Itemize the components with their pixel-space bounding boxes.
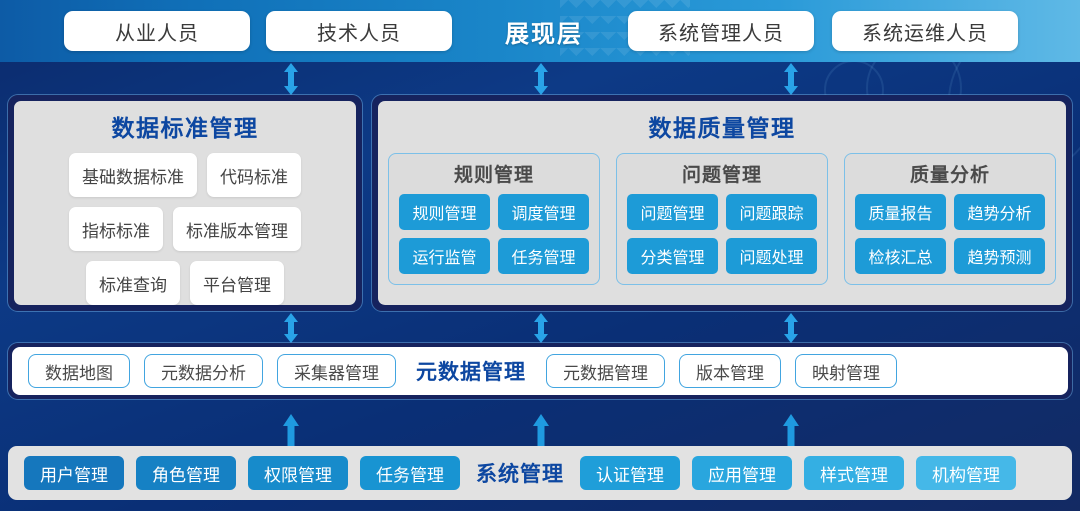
button-org-management[interactable]: 机构管理 [916,456,1016,490]
subcard-title-rule-management: 规则管理 [399,160,589,187]
button-issue-management[interactable]: 问题管理 [627,194,718,230]
chip-code-standard[interactable]: 代码标准 [207,153,301,197]
button-audit-summary[interactable]: 检核汇总 [855,238,946,274]
double-arrow-vertical-icon [531,312,551,344]
button-trend-forecast[interactable]: 趋势预测 [954,238,1045,274]
chip-basic-data-standard[interactable]: 基础数据标准 [69,153,197,197]
button-category-management[interactable]: 分类管理 [627,238,718,274]
button-task-management[interactable]: 任务管理 [498,238,589,274]
quality-analysis-buttons: 质量报告 趋势分析 检核汇总 趋势预测 [855,194,1045,274]
chip-standard-version-management[interactable]: 标准版本管理 [173,207,301,251]
up-arrow-icon [531,408,551,448]
subcard-title-quality-analysis: 质量分析 [855,160,1045,187]
button-issue-handling[interactable]: 问题处理 [726,238,817,274]
panel-data-standard-management: 数据标准管理 基础数据标准 代码标准 指标标准 标准版本管理 标准查询 平台管理 [8,95,362,311]
up-arrow-icon [281,408,301,448]
double-arrow-vertical-icon [281,312,301,344]
pill-metadata-analysis[interactable]: 元数据分析 [144,354,263,388]
panel-title-data-quality: 数据质量管理 [388,109,1056,143]
button-style-management[interactable]: 样式管理 [804,456,904,490]
button-schedule-management[interactable]: 调度管理 [498,194,589,230]
subcard-title-issue-management: 问题管理 [627,160,817,187]
up-arrow-icon [781,408,801,448]
chip-standard-query[interactable]: 标准查询 [86,261,180,305]
button-user-management[interactable]: 用户管理 [24,456,124,490]
subcard-rule-management: 规则管理 规则管理 调度管理 运行监管 任务管理 [388,153,600,285]
panel-data-quality-management: 数据质量管理 规则管理 规则管理 调度管理 运行监管 任务管理 问题管理 问题管… [372,95,1072,311]
button-operation-supervision[interactable]: 运行监管 [399,238,490,274]
pill-version-management[interactable]: 版本管理 [679,354,781,388]
system-management-label: 系统管理 [472,458,568,488]
button-auth-management[interactable]: 认证管理 [580,456,680,490]
button-application-management[interactable]: 应用管理 [692,456,792,490]
pill-data-map[interactable]: 数据地图 [28,354,130,388]
pill-collector-management[interactable]: 采集器管理 [277,354,396,388]
button-task-management-system[interactable]: 任务管理 [360,456,460,490]
button-issue-tracking[interactable]: 问题跟踪 [726,194,817,230]
button-permission-management[interactable]: 权限管理 [248,456,348,490]
middle-panels: 数据标准管理 基础数据标准 代码标准 指标标准 标准版本管理 标准查询 平台管理… [8,95,1072,311]
metadata-management-label: 元数据管理 [410,356,532,386]
quality-subcards: 规则管理 规则管理 调度管理 运行监管 任务管理 问题管理 问题管理 问题跟踪 … [388,153,1056,285]
pill-mapping-management[interactable]: 映射管理 [795,354,897,388]
button-rule-management[interactable]: 规则管理 [399,194,490,230]
presentation-layer-label: 展现层 [470,14,618,49]
presentation-layer-banner: 从业人员 技术人员 展现层 系统管理人员 系统运维人员 [0,0,1080,62]
double-arrow-vertical-icon [531,62,551,96]
double-arrow-vertical-icon [281,62,301,96]
role-pill-technician[interactable]: 技术人员 [266,11,452,51]
role-pill-system-ops[interactable]: 系统运维人员 [832,11,1018,51]
issue-management-buttons: 问题管理 问题跟踪 分类管理 问题处理 [627,194,817,274]
double-arrow-vertical-icon [781,312,801,344]
chip-indicator-standard[interactable]: 指标标准 [69,207,163,251]
chip-platform-management[interactable]: 平台管理 [190,261,284,305]
button-trend-analysis[interactable]: 趋势分析 [954,194,1045,230]
metadata-management-row: 数据地图 元数据分析 采集器管理 元数据管理 元数据管理 版本管理 映射管理 [8,343,1072,399]
button-quality-report[interactable]: 质量报告 [855,194,946,230]
data-standard-chip-grid: 基础数据标准 代码标准 指标标准 标准版本管理 标准查询 平台管理 [24,153,346,305]
panel-title-data-standard: 数据标准管理 [24,109,346,143]
rule-management-buttons: 规则管理 调度管理 运行监管 任务管理 [399,194,589,274]
subcard-issue-management: 问题管理 问题管理 问题跟踪 分类管理 问题处理 [616,153,828,285]
system-management-row: 用户管理 角色管理 权限管理 任务管理 系统管理 认证管理 应用管理 样式管理 … [8,446,1072,500]
pill-metadata-management[interactable]: 元数据管理 [546,354,665,388]
role-pill-system-admin[interactable]: 系统管理人员 [628,11,814,51]
double-arrow-vertical-icon [781,62,801,96]
button-role-management[interactable]: 角色管理 [136,456,236,490]
role-pill-practitioner[interactable]: 从业人员 [64,11,250,51]
subcard-quality-analysis: 质量分析 质量报告 趋势分析 检核汇总 趋势预测 [844,153,1056,285]
